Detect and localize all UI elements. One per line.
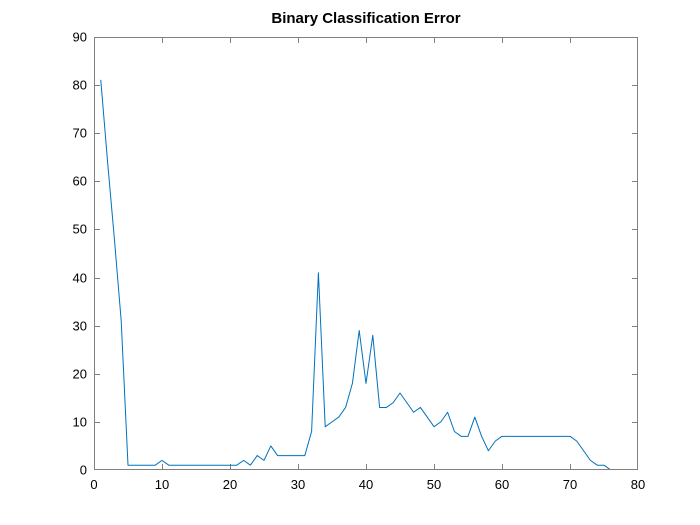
data-series-line (101, 80, 611, 470)
y-tick-label: 10 (47, 414, 87, 429)
x-tick-label: 20 (223, 477, 237, 492)
y-tick-label: 90 (47, 30, 87, 45)
x-tick-label: 10 (155, 477, 169, 492)
y-tick-label: 50 (47, 222, 87, 237)
figure-container: Binary Classification Error 010203040506… (0, 0, 700, 525)
y-tick-label: 30 (47, 318, 87, 333)
x-tick-label: 70 (563, 477, 577, 492)
y-tick-label: 0 (47, 463, 87, 478)
plot-svg (94, 37, 638, 470)
axes-box (95, 38, 638, 470)
x-tick-label: 50 (427, 477, 441, 492)
x-tick-label: 80 (631, 477, 645, 492)
x-tick-label: 30 (291, 477, 305, 492)
x-tick-label: 60 (495, 477, 509, 492)
axis-ticks (94, 37, 638, 470)
y-tick-label: 60 (47, 174, 87, 189)
x-tick-label: 0 (90, 477, 97, 492)
y-tick-label: 40 (47, 270, 87, 285)
x-tick-label: 40 (359, 477, 373, 492)
y-tick-label: 70 (47, 126, 87, 141)
plot-area: 0102030405060708090 01020304050607080 (94, 37, 638, 470)
y-tick-label: 20 (47, 366, 87, 381)
y-tick-label: 80 (47, 78, 87, 93)
chart-title: Binary Classification Error (94, 10, 638, 27)
